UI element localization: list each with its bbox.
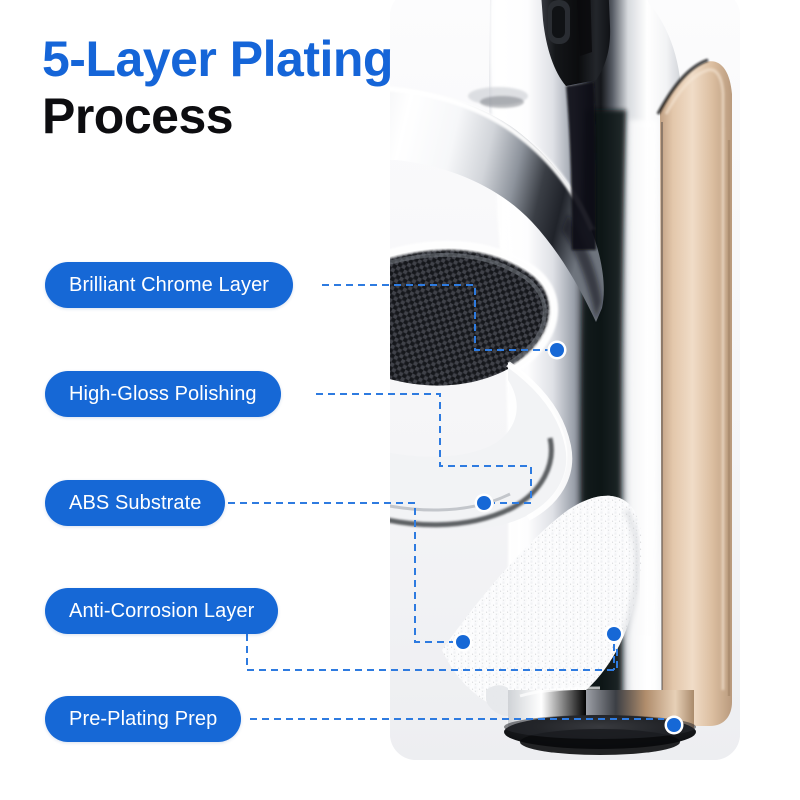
faucet-base: [504, 688, 696, 755]
layer-label-brilliant-chrome-layer[interactable]: Brilliant Chrome Layer: [45, 262, 293, 308]
layer-label-text: High-Gloss Polishing: [69, 383, 257, 406]
layer-label-abs-substrate[interactable]: ABS Substrate: [45, 480, 225, 526]
infographic-canvas: 5-Layer Plating Process Brilliant Chrome…: [0, 0, 800, 800]
page-title: 5-Layer Plating Process: [42, 34, 512, 142]
gold-accent-strip: [660, 61, 732, 726]
title-line-secondary: Process: [42, 91, 512, 142]
layer-label-anti-corrosion-layer[interactable]: Anti-Corrosion Layer: [45, 588, 278, 634]
layer-label-high-gloss-polishing[interactable]: High-Gloss Polishing: [45, 371, 281, 417]
title-line-primary: 5-Layer Plating: [42, 34, 512, 85]
layer-label-text: Pre-Plating Prep: [69, 708, 217, 731]
layer-label-text: Brilliant Chrome Layer: [69, 274, 269, 297]
layer-label-pre-plating-prep[interactable]: Pre-Plating Prep: [45, 696, 241, 742]
layer-label-text: ABS Substrate: [69, 492, 201, 515]
layer-label-text: Anti-Corrosion Layer: [69, 600, 254, 623]
